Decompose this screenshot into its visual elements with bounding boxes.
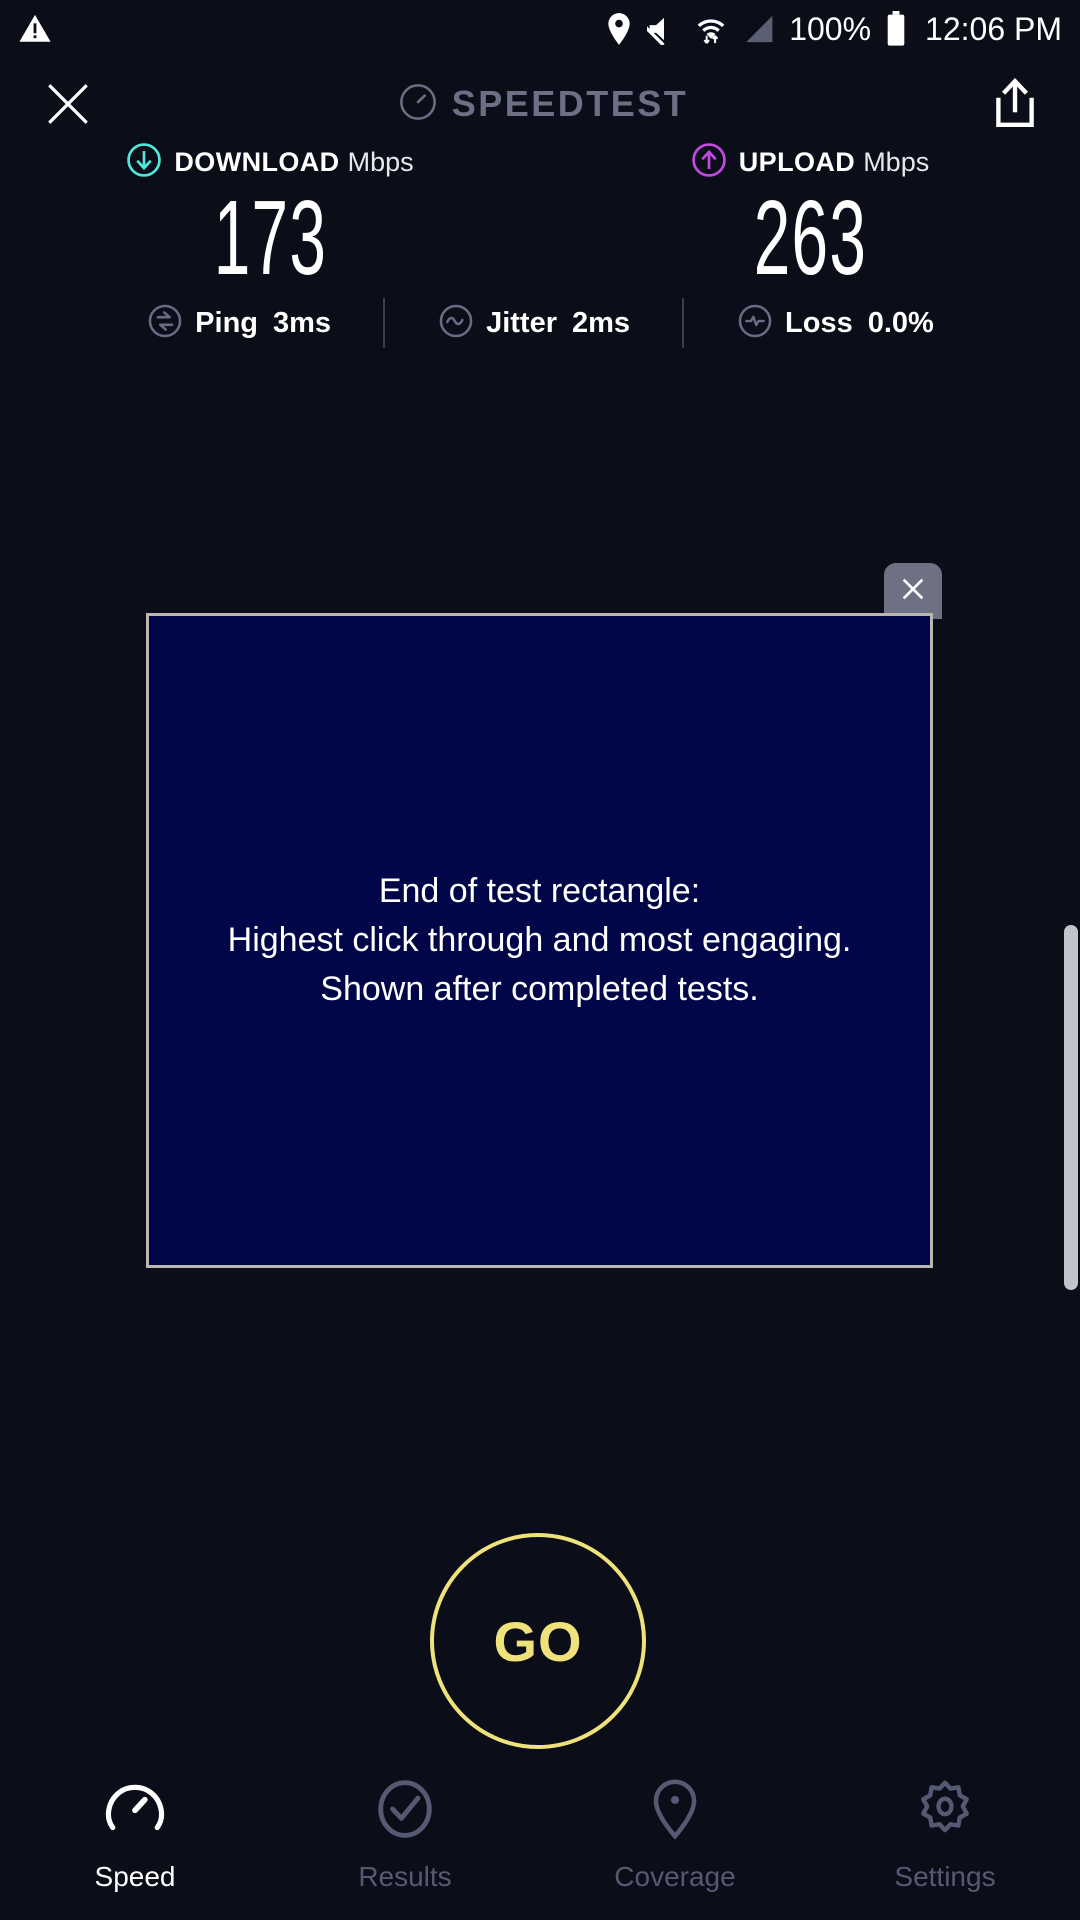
close-icon[interactable] bbox=[40, 76, 96, 132]
app-header: SPEEDTEST bbox=[0, 58, 1080, 150]
ping-label: Ping bbox=[195, 307, 258, 340]
upload-value: 263 bbox=[753, 184, 866, 292]
upload-arrow-icon bbox=[691, 142, 727, 183]
speed-results: DOWNLOAD Mbps 173 UPLOAD Mbps bbox=[0, 140, 1080, 348]
share-icon[interactable] bbox=[990, 77, 1040, 131]
upload-header: UPLOAD Mbps bbox=[691, 140, 929, 184]
go-button[interactable]: GO bbox=[430, 1533, 646, 1749]
download-value: 173 bbox=[213, 184, 326, 292]
status-bar-left bbox=[18, 12, 52, 46]
status-bar-right: 100% 12:06 PM bbox=[605, 11, 1062, 48]
jitter-value: 2ms bbox=[572, 307, 630, 340]
nav-label-settings: Settings bbox=[894, 1861, 995, 1893]
cell-signal-icon bbox=[741, 13, 775, 45]
speedometer-icon bbox=[398, 82, 438, 127]
nav-label-results: Results bbox=[358, 1861, 451, 1893]
mute-icon bbox=[647, 13, 681, 45]
download-arrow-icon bbox=[126, 142, 162, 183]
download-label: DOWNLOAD bbox=[174, 147, 339, 178]
battery-full-icon bbox=[885, 11, 907, 47]
clock-label: 12:06 PM bbox=[925, 11, 1062, 48]
upload-unit: Mbps bbox=[863, 147, 929, 178]
close-icon bbox=[897, 573, 929, 610]
nav-label-speed: Speed bbox=[95, 1861, 176, 1893]
loss-label: Loss bbox=[785, 307, 853, 340]
ping-icon bbox=[146, 302, 184, 345]
speedometer-icon bbox=[104, 1778, 166, 1845]
download-header: DOWNLOAD Mbps bbox=[126, 140, 413, 184]
go-button-label: GO bbox=[493, 1609, 582, 1674]
upload-label: UPLOAD bbox=[739, 147, 855, 178]
gear-icon bbox=[914, 1778, 976, 1845]
battery-percent-label: 100% bbox=[789, 11, 871, 48]
ping-value: 3ms bbox=[273, 307, 331, 340]
jitter-label: Jitter bbox=[486, 307, 557, 340]
download-upload-row: DOWNLOAD Mbps 173 UPLOAD Mbps bbox=[0, 140, 1080, 292]
status-bar: 100% 12:06 PM bbox=[0, 0, 1080, 58]
wifi-icon bbox=[695, 12, 727, 46]
brand: SPEEDTEST bbox=[398, 82, 689, 127]
stat-divider bbox=[682, 298, 684, 348]
ad-close-button[interactable] bbox=[884, 563, 942, 619]
advertisement-banner[interactable]: End of test rectangle: Highest click thr… bbox=[146, 613, 933, 1268]
nav-item-results[interactable]: Results bbox=[270, 1778, 540, 1893]
location-pin-icon bbox=[644, 1778, 706, 1845]
check-circle-icon bbox=[374, 1778, 436, 1845]
app-title: SPEEDTEST bbox=[452, 83, 689, 125]
loss-icon bbox=[736, 302, 774, 345]
download-unit: Mbps bbox=[348, 147, 414, 178]
loss-value: 0.0% bbox=[868, 307, 934, 340]
page-scrollbar[interactable] bbox=[1064, 925, 1078, 1290]
nav-label-coverage: Coverage bbox=[614, 1861, 735, 1893]
nav-item-settings[interactable]: Settings bbox=[810, 1778, 1080, 1893]
stat-divider bbox=[383, 298, 385, 348]
nav-item-coverage[interactable]: Coverage bbox=[540, 1778, 810, 1893]
jitter-icon bbox=[437, 302, 475, 345]
location-pin-icon bbox=[605, 12, 633, 46]
ad-text: End of test rectangle: Highest click thr… bbox=[228, 867, 852, 1015]
upload-metric: UPLOAD Mbps 263 bbox=[540, 140, 1080, 292]
stat-loss: Loss 0.0% bbox=[736, 302, 934, 345]
stat-jitter: Jitter 2ms bbox=[437, 302, 630, 345]
speedtest-app-screen: 100% 12:06 PM SPEEDTEST bbox=[0, 0, 1080, 1920]
bottom-navigation: Speed Results Coverage bbox=[0, 1760, 1080, 1920]
stat-ping: Ping 3ms bbox=[146, 302, 331, 345]
download-metric: DOWNLOAD Mbps 173 bbox=[0, 140, 540, 292]
warning-triangle-icon bbox=[18, 12, 52, 46]
nav-item-speed[interactable]: Speed bbox=[0, 1778, 270, 1893]
stats-row: Ping 3ms Jitter 2ms bbox=[0, 298, 1080, 348]
